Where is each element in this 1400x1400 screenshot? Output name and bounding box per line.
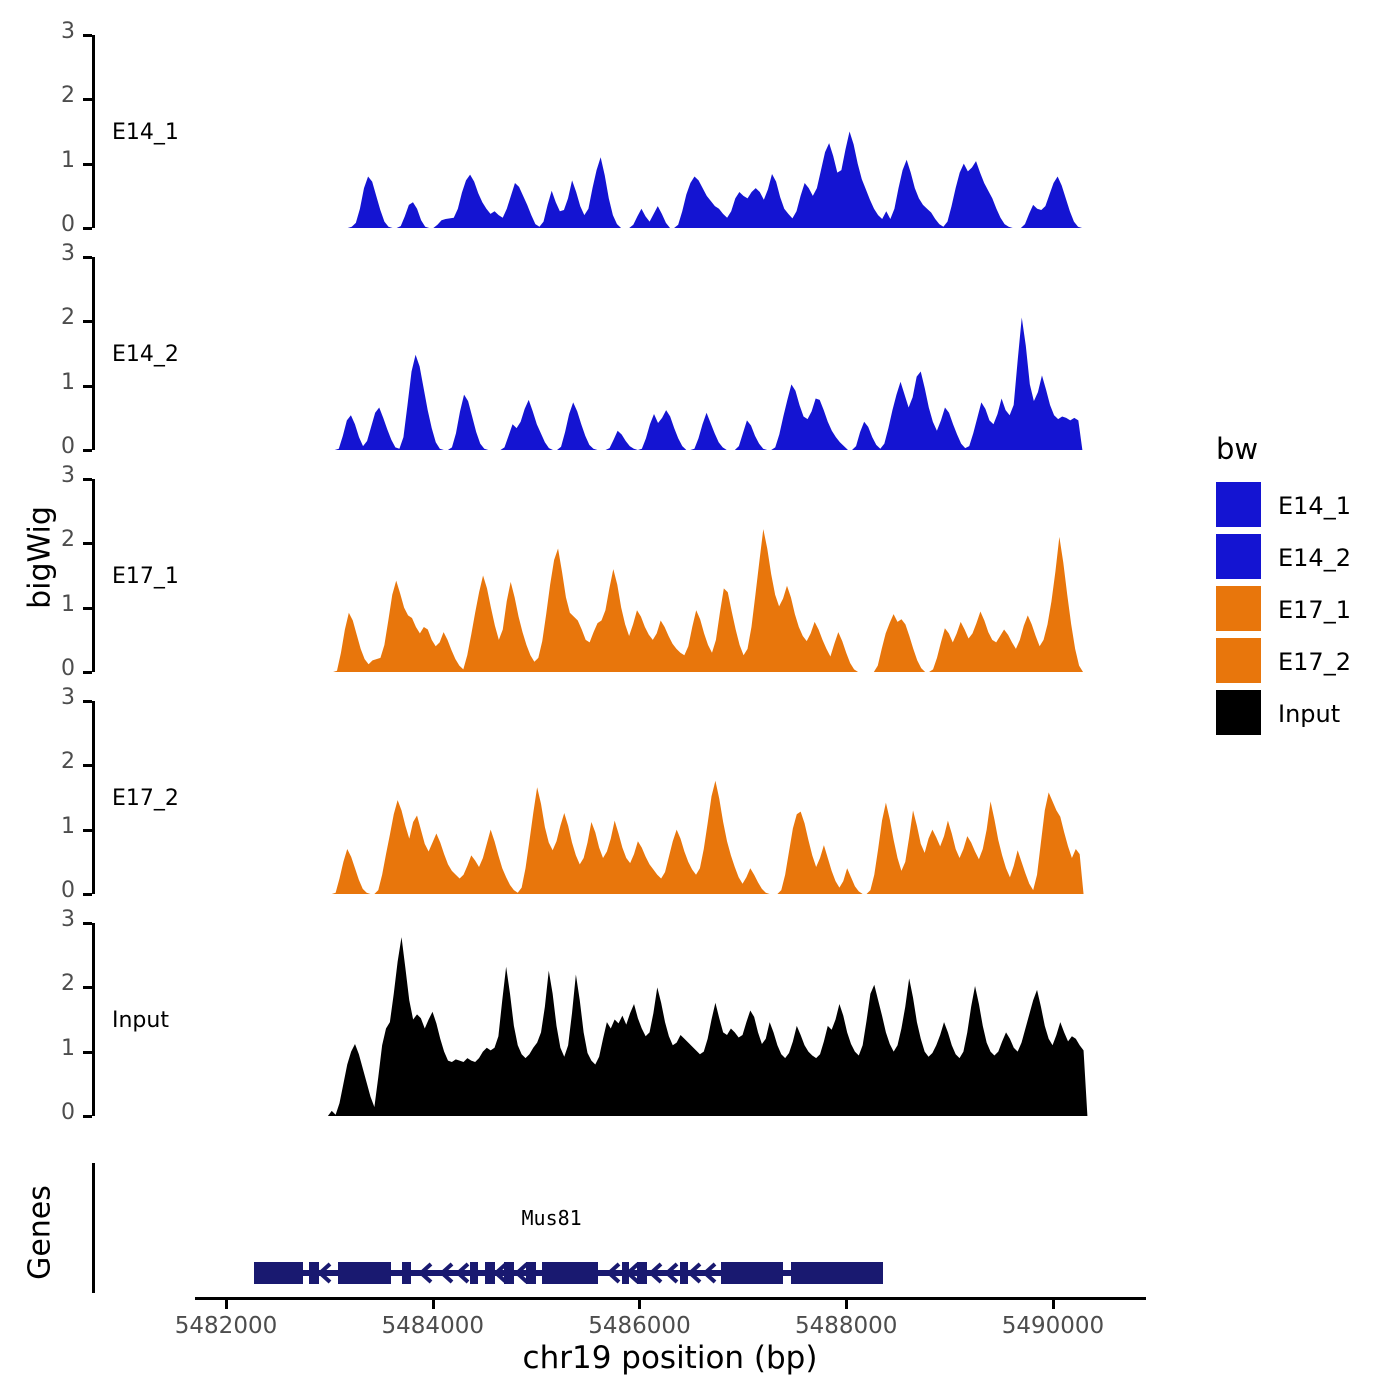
gene-strand-arrow-left-icon [418,1262,434,1284]
track-label-e17_2: E17_2 [112,786,179,811]
signal-area [262,132,1111,229]
y-tick-label: 2 [17,305,75,330]
y-tick-mark [83,256,92,259]
x-tick-label: 5490000 [953,1313,1153,1339]
signal-track-e17_1 [262,479,1111,674]
gene-exon-block [721,1262,783,1284]
y-tick-label: 0 [17,212,75,237]
signal-area [262,937,1111,1116]
gene-strand-arrow-left-icon [317,1262,333,1284]
signal-area [262,317,1111,450]
legend-label-e17_1: E17_1 [1278,596,1351,624]
signal-track-e14_2 [262,257,1111,452]
signal-track-e17_2 [262,701,1111,896]
x-tick-label: 5488000 [746,1313,946,1339]
gene-strand-arrow-left-icon [514,1262,530,1284]
x-tick-label: 5482000 [126,1313,326,1339]
signal-area [262,529,1111,672]
legend-swatch-e17_1[interactable] [1216,586,1261,631]
y-tick-mark [83,607,92,610]
y-tick-label: 3 [17,907,75,932]
legend-swatch-input[interactable] [1216,690,1261,735]
gene-strand-arrow-left-icon [702,1262,718,1284]
y-tick-label: 3 [17,685,75,710]
y-tick-mark [83,542,92,545]
y-tick-label: 2 [17,83,75,108]
y-tick-mark [83,893,92,896]
y-tick-label: 3 [17,241,75,266]
y-axis-line-input [92,923,95,1116]
y-tick-label: 2 [17,527,75,552]
signal-track-e14_1 [262,35,1111,230]
gene-exon-block [402,1262,411,1284]
legend-label-e14_1: E14_1 [1278,492,1351,520]
y-axis-line-e17_1 [92,479,95,672]
x-tick-mark [225,1300,228,1309]
y-tick-mark [83,449,92,452]
gene-strand-arrow-left-icon [625,1262,641,1284]
gene-strand-arrow-left-icon [606,1262,622,1284]
legend-label-e14_2: E14_2 [1278,544,1351,572]
y-tick-label: 1 [17,148,75,173]
legend-label-input: Input [1278,700,1340,728]
y-tick-mark [83,700,92,703]
y-axis-line-e14_1 [92,35,95,228]
y-axis-line-e17_2 [92,701,95,894]
y-tick-label: 2 [17,749,75,774]
y-tick-mark [83,227,92,230]
y-tick-label: 0 [17,1100,75,1125]
y-tick-label: 3 [17,19,75,44]
y-axis-line-e14_2 [92,257,95,450]
gene-name-label: Mus81 [462,1206,642,1230]
gene-exon-block [791,1262,882,1284]
track-label-input: Input [112,1008,169,1033]
y-tick-mark [83,671,92,674]
y-tick-mark [83,385,92,388]
x-tick-mark [638,1300,641,1309]
y-tick-label: 1 [17,814,75,839]
y-tick-mark [83,764,92,767]
gene-exon-block [254,1262,302,1284]
track-label-e17_1: E17_1 [112,564,179,589]
legend-swatch-e14_2[interactable] [1216,534,1261,579]
y-tick-mark [83,98,92,101]
y-tick-mark [83,829,92,832]
y-tick-label: 3 [17,463,75,488]
genes-panel-label: Genes [23,1168,58,1298]
legend-title: bw [1216,432,1258,466]
gene-exon-block [338,1262,392,1284]
y-tick-label: 0 [17,434,75,459]
gene-strand-arrow-left-icon [648,1262,664,1284]
gene-strand-arrow-left-icon [664,1262,680,1284]
y-tick-mark [83,986,92,989]
gene-strand-arrow-left-icon [439,1262,455,1284]
track-label-e14_1: E14_1 [112,120,179,145]
gene-exon-block [470,1262,478,1284]
y-tick-label: 1 [17,370,75,395]
gene-exon-block [542,1262,598,1284]
x-axis-line [195,1297,1146,1300]
x-tick-mark [845,1300,848,1309]
gene-strand-arrow-left-icon [493,1262,509,1284]
gene-strand-arrow-left-icon [455,1262,471,1284]
y-tick-mark [83,34,92,37]
x-tick-label: 5484000 [333,1313,533,1339]
y-tick-mark [83,1051,92,1054]
y-tick-mark [83,1115,92,1118]
y-tick-label: 0 [17,878,75,903]
x-tick-mark [1052,1300,1055,1309]
y-tick-label: 0 [17,656,75,681]
signal-track-input [262,923,1111,1118]
genes-axis-line [92,1163,95,1293]
legend-swatch-e17_2[interactable] [1216,638,1261,683]
y-tick-mark [83,478,92,481]
x-axis-title: chr19 position (bp) [190,1340,1150,1376]
signal-area [262,781,1111,894]
x-tick-label: 5486000 [539,1313,739,1339]
y-tick-label: 2 [17,971,75,996]
legend-label-e17_2: E17_2 [1278,648,1351,676]
figure-canvas: bigWig Genes 0123E14_10123E14_20123E17_1… [0,0,1400,1400]
y-tick-mark [83,163,92,166]
legend-swatch-e14_1[interactable] [1216,482,1261,527]
y-tick-mark [83,320,92,323]
x-tick-mark [432,1300,435,1309]
y-tick-label: 1 [17,592,75,617]
y-tick-mark [83,922,92,925]
track-label-e14_2: E14_2 [112,342,179,367]
y-tick-label: 1 [17,1036,75,1061]
